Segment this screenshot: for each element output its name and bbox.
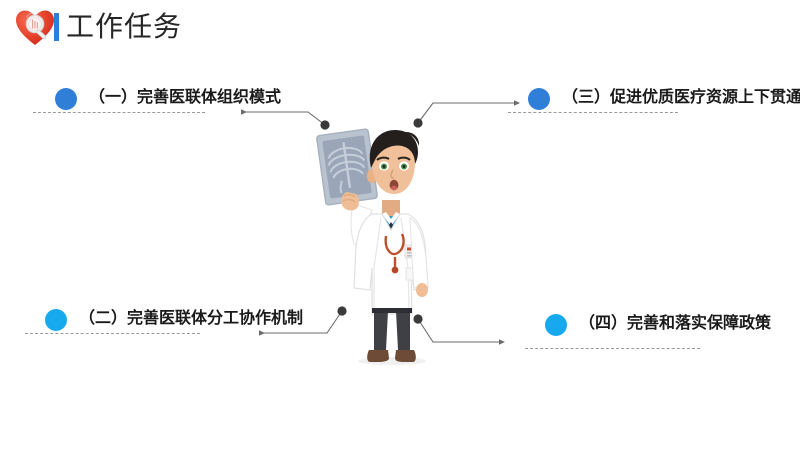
page-title: 工作任务 [66, 7, 182, 47]
left-shoe [367, 350, 389, 362]
dash-underline-item-4 [525, 348, 700, 349]
header-accent-bar [54, 13, 59, 41]
dash-underline-item-3 [508, 112, 678, 113]
right-leg [396, 311, 410, 350]
right-shoe [395, 350, 416, 362]
dash-underline-item-1 [33, 112, 205, 113]
bullet-label-item-1: （一）完善医联体组织模式 [89, 85, 281, 111]
left-leg [374, 311, 388, 350]
bullet-dot-item-1 [55, 88, 77, 110]
slide-header: 工作任务 [0, 0, 800, 56]
bullet-label-item-4: （四）完善和落实保障政策 [579, 311, 771, 337]
doctor-with-xray-illustration [310, 118, 470, 368]
bullet-dot-item-3 [528, 88, 550, 110]
slide-canvas: 工作任务 [0, 0, 800, 450]
right-hand [416, 283, 428, 297]
bullet-dot-item-4 [545, 314, 567, 336]
bullet-dot-item-2 [45, 309, 67, 331]
heart-magnifier-icon [14, 8, 56, 48]
dash-underline-item-2 [25, 333, 200, 334]
bullet-label-item-2: （二）完善医联体分工协作机制 [79, 306, 303, 332]
bullet-label-item-3: （三）促进优质医疗资源上下贯通 [562, 85, 800, 111]
